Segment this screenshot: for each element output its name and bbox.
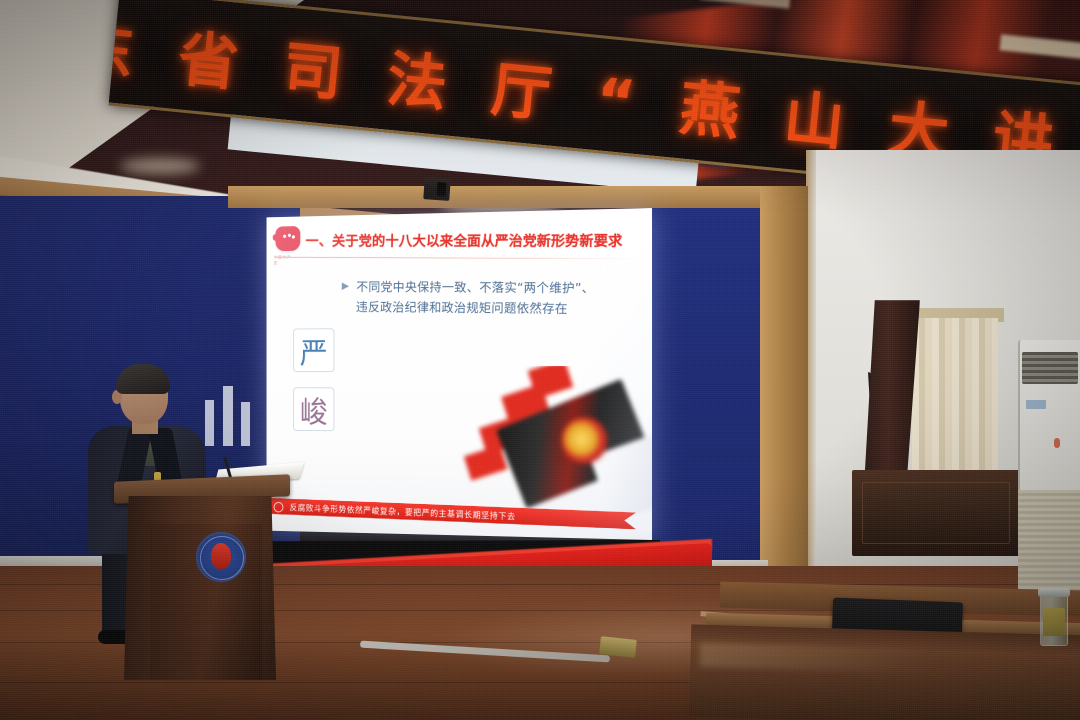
slide-keyword-box-2: 峻 <box>293 387 334 431</box>
podium-body <box>124 496 276 680</box>
mop-head <box>599 636 637 658</box>
tea-cup-contents <box>1043 608 1065 636</box>
ceiling-spotlight <box>120 158 200 174</box>
air-conditioner-indicator <box>1054 438 1060 448</box>
screen-frame-top <box>228 186 808 208</box>
lectern-podium <box>120 478 280 678</box>
screen-frame-right <box>760 186 808 606</box>
slide-title: 一、关于党的十八大以来全面从严治党新形势新要求 <box>305 230 622 251</box>
wood-cabinet-panel <box>862 482 1010 544</box>
bullet-arrow-icon <box>342 282 349 290</box>
slide-bullet-block: 不同党中央保持一致、不落实“两个维护”、 违反政治纪律和政治规矩问题依然存在 <box>356 278 641 321</box>
judicial-emblem-icon <box>196 532 246 582</box>
tea-cup-lid <box>1038 588 1070 597</box>
slide-bullet-line-1: 不同党中央保持一致、不落实“两个维护”、 <box>356 278 640 300</box>
air-conditioner-display <box>1026 400 1046 409</box>
slide-title-underline <box>275 257 640 260</box>
wall-decoration-shan <box>205 386 253 448</box>
wall-camera-icon <box>423 177 450 201</box>
speaker-hair <box>116 364 170 394</box>
air-conditioner-grille <box>1022 352 1078 384</box>
party-emblem-icon <box>275 226 300 251</box>
air-conditioner-base-grille <box>1018 490 1080 602</box>
blue-backdrop-right <box>648 196 768 574</box>
photograph-scene: 全国统一法律职业资格考试 山 东 省 司 法 厅 “ 燕 山 大 讲 堂 ” 中… <box>0 0 1080 720</box>
projection-screen[interactable]: 中国共产党 一、关于党的十八大以来全面从严治党新形势新要求 不同党中央保持一致、… <box>267 208 652 540</box>
slide-keyword-box-1: 严 <box>293 328 334 372</box>
slide-decorative-photo <box>456 366 652 516</box>
slide-bullet-line-2: 违反政治纪律和政治规矩问题依然存在 <box>356 298 640 321</box>
